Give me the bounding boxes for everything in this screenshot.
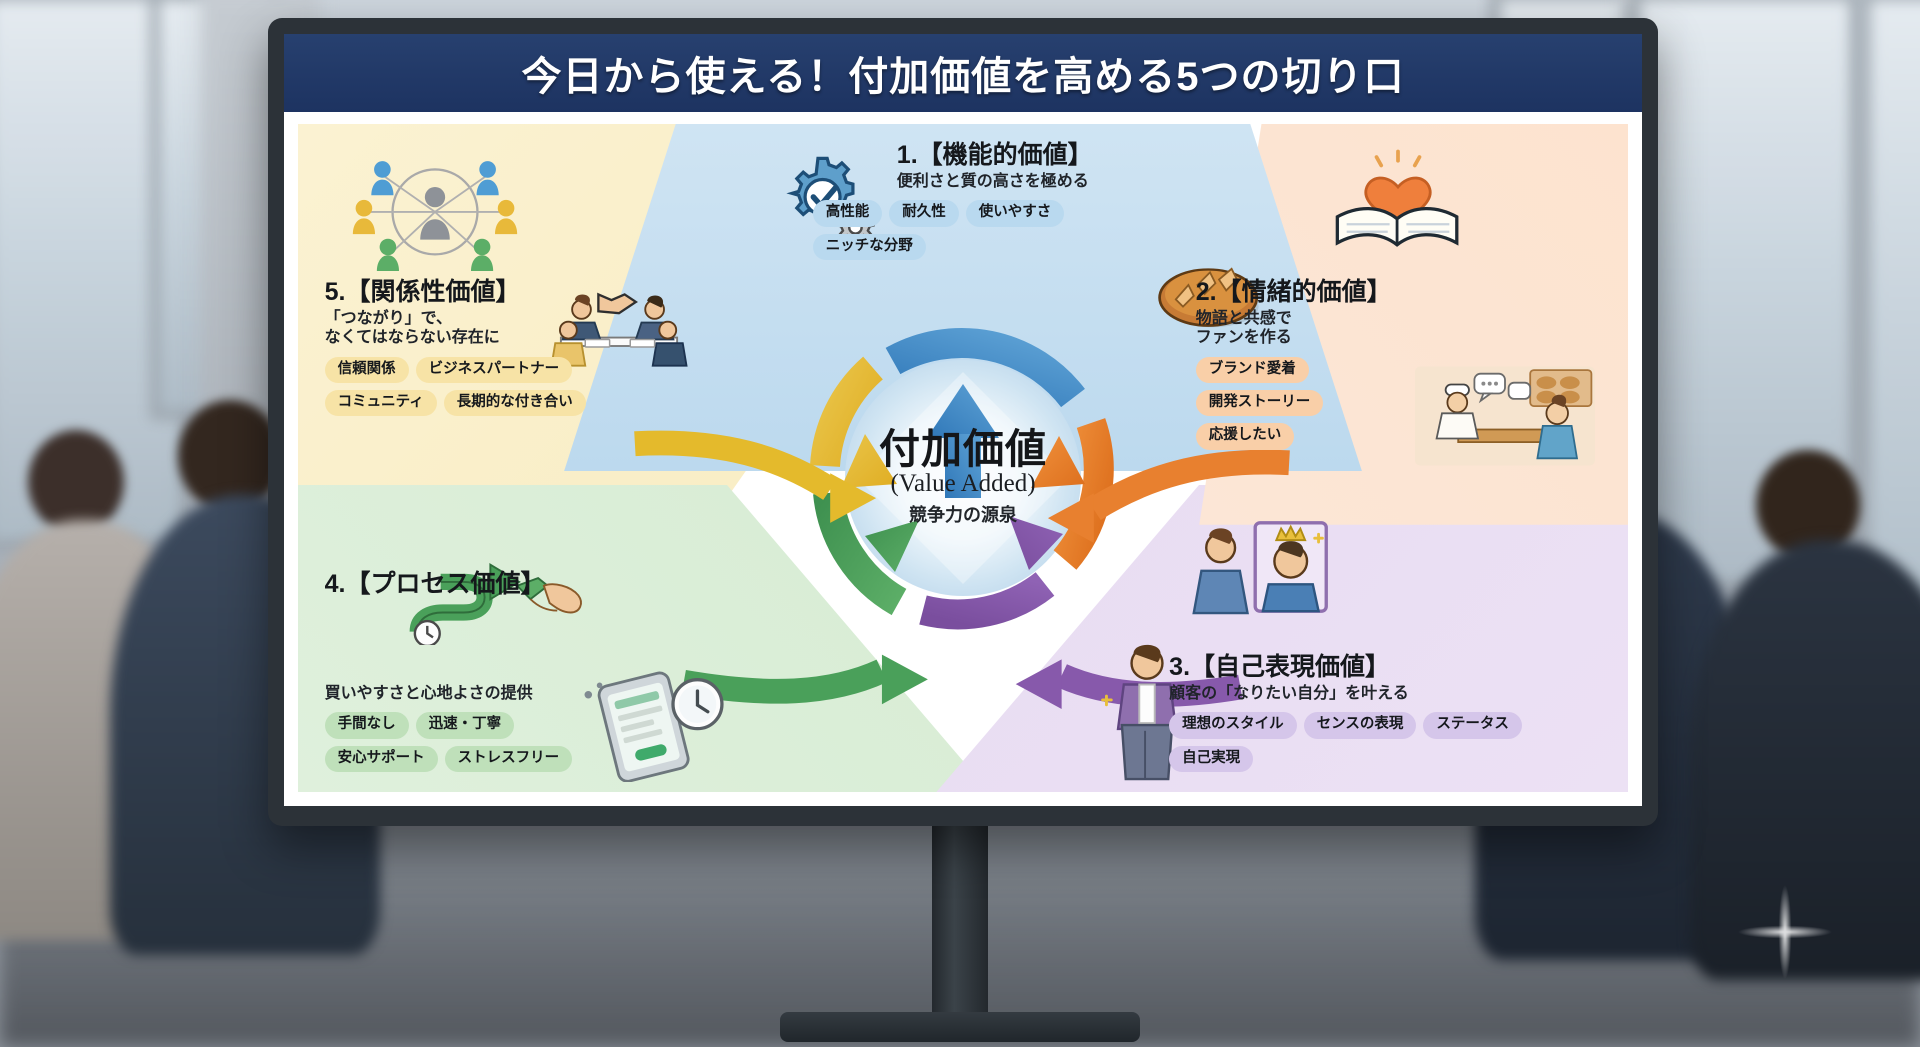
tag[interactable]: ストレスフリー [445, 746, 573, 772]
section-relationship-value: 5.【関係性価値】 「つながり」で、 なくてはならない存在に 信頼関係 ビジネス… [325, 278, 724, 417]
section-2-subtitle-line1: 物語と共感で [1196, 309, 1608, 329]
monitor-stand-neck [932, 826, 988, 1026]
tag[interactable]: コミュニティ [325, 390, 437, 416]
section-2-heading: 2.【情緒的価値】 [1196, 278, 1608, 306]
tag[interactable]: 理想のスタイル [1169, 712, 1297, 738]
tag[interactable]: 開発ストーリー [1196, 390, 1324, 416]
monitor-bezel: 今日から使える！付加価値を高める5つの切り口 [268, 18, 1658, 826]
section-5-subtitle-line2: なくてはならない存在に [325, 328, 724, 348]
section-3-subtitle: 顧客の「なりたい自分」を叶える [1169, 684, 1608, 704]
section-3-tags: 理想のスタイル センスの表現 ステータス 自己実現 [1169, 712, 1608, 772]
section-2-tags: ブランド愛着 開発ストーリー 応援したい [1196, 357, 1371, 450]
person-head [28, 430, 124, 534]
slide-title-bar: 今日から使える！付加価値を高める5つの切り口 [284, 34, 1642, 112]
tag[interactable]: ビジネスパートナー [416, 357, 573, 383]
value-cycle-diagram [773, 288, 1153, 668]
tag[interactable]: 高性能 [813, 200, 883, 226]
infographic-canvas: 付加価値 (Value Added) 競争力の源泉 [298, 124, 1628, 792]
avatar-frame-icon [1185, 519, 1335, 615]
tag[interactable]: 自己実現 [1169, 746, 1253, 772]
monitor-stand-base [780, 1012, 1140, 1042]
heart-book-icon [1328, 144, 1468, 256]
section-4-tags: 手間なし 迅速・丁寧 安心サポート ストレスフリー [325, 712, 595, 772]
tag[interactable]: 応援したい [1196, 423, 1295, 449]
section-emotional-value: 2.【情緒的価値】 物語と共感で ファンを作る ブランド愛着 開発ストーリー 応… [1196, 278, 1608, 450]
tag[interactable]: 手間なし [325, 712, 409, 738]
tag[interactable]: ステータス [1423, 712, 1522, 738]
tag[interactable]: センスの表現 [1304, 712, 1417, 738]
tag[interactable]: 耐久性 [889, 200, 959, 226]
section-4-subtitle: 買いやすさと心地よさの提供 [325, 684, 764, 704]
screen: 今日から使える！付加価値を高める5つの切り口 [284, 34, 1642, 806]
section-1-heading: 1.【機能的価値】 [897, 141, 1256, 169]
people-network-icon [345, 151, 525, 271]
page-title: 今日から使える！付加価値を高める5つの切り口 [521, 44, 1404, 102]
tag[interactable]: 安心サポート [325, 746, 438, 772]
sparkle-icon [1740, 887, 1830, 977]
tag[interactable]: 長期的な付き合い [444, 390, 586, 416]
section-self-expression-value: 3.【自己表現価値】 顧客の「なりたい自分」を叶える 理想のスタイル センスの表… [1169, 653, 1608, 772]
section-5-subtitle-line1: 「つながり」で、 [325, 309, 724, 329]
tag[interactable]: ブランド愛着 [1196, 357, 1309, 383]
section-1-tags: 高性能 耐久性 使いやすさ ニッチな分野 [813, 200, 1113, 260]
tag[interactable]: 迅速・丁寧 [416, 712, 515, 738]
section-1-subtitle: 便利さと質の高さを極める [897, 172, 1256, 192]
tag[interactable]: 使いやすさ [966, 200, 1065, 226]
section-5-heading: 5.【関係性価値】 [325, 278, 724, 306]
section-process-value: 4.【プロセス価値】 買いやすさと心地よさの提供 手間なし 迅速・丁寧 安心サポ… [325, 570, 764, 772]
tag[interactable]: 信頼関係 [325, 357, 409, 383]
section-5-tags: 信頼関係 ビジネスパートナー コミュニティ 長期的な付き合い [325, 357, 595, 417]
section-3-heading: 3.【自己表現価値】 [1169, 653, 1608, 681]
tag[interactable]: ニッチな分野 [813, 234, 926, 260]
section-functional-value: 1.【機能的価値】 便利さと質の高さを極める 高性能 耐久性 使いやすさ ニッチ… [777, 141, 1256, 260]
section-4-heading: 4.【プロセス価値】 [325, 570, 764, 598]
section-2-subtitle-line2: ファンを作る [1196, 328, 1608, 348]
